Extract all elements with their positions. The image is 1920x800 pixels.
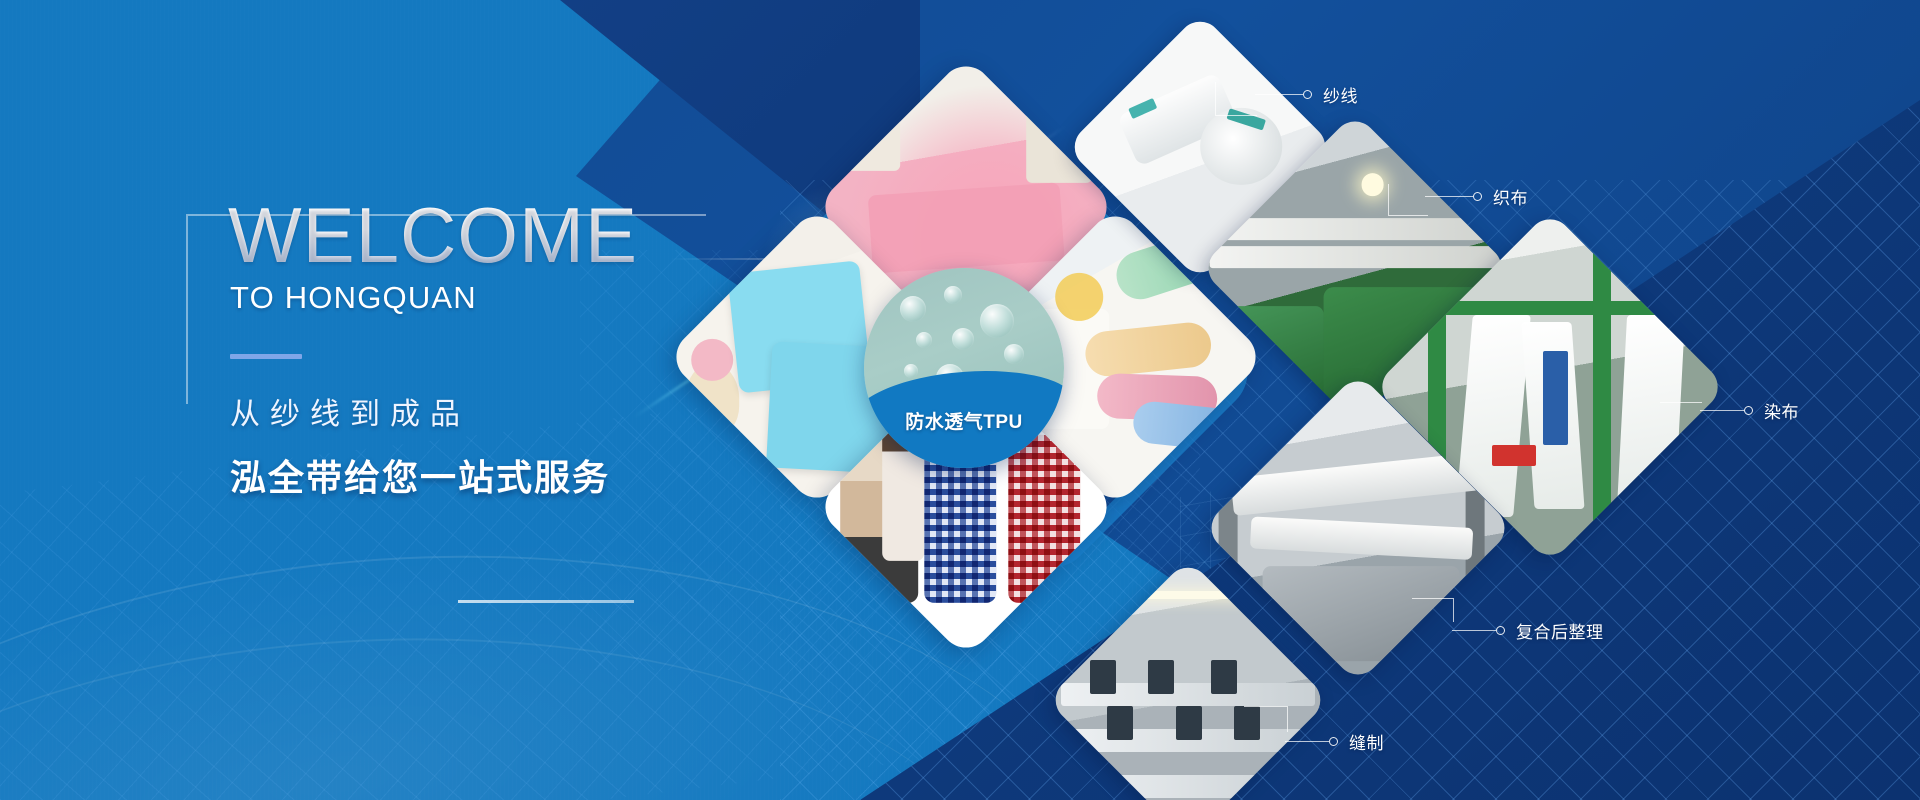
callout-laminating: 复合后整理 (1452, 618, 1604, 643)
tpu-badge-label: 防水透气TPU (864, 407, 1064, 434)
callout-connector-dyeing (1660, 402, 1702, 403)
page-title: WELCOME (228, 196, 748, 276)
callout-connector-sewing (1244, 706, 1288, 732)
bottom-accent-line (458, 600, 634, 603)
page-subtitle: TO HONGQUAN (230, 280, 748, 316)
callout-line (1285, 741, 1329, 742)
hero-banner: WELCOME TO HONGQUAN 从纱线到成品 泓全带给您一站式服务 (0, 0, 1920, 800)
callout-dyeing: 染布 (1700, 398, 1799, 423)
slogan: 泓全带给您一站式服务 (230, 449, 748, 501)
callout-dot-icon (1303, 90, 1312, 99)
callout-label-sewing: 缝制 (1349, 729, 1384, 754)
callout-yarn: 纱线 (1255, 82, 1358, 107)
callout-dot-icon (1473, 192, 1482, 201)
callout-label-laminating: 复合后整理 (1516, 618, 1604, 643)
callout-label-yarn: 纱线 (1323, 82, 1358, 107)
callout-line (1452, 630, 1496, 631)
callout-dot-icon (1496, 626, 1505, 635)
callout-line (1425, 196, 1473, 197)
callout-connector-yarn (1215, 82, 1257, 116)
callout-connector-weaving (1388, 184, 1428, 216)
tpu-feature-badge[interactable]: 防水透气TPU (864, 268, 1064, 468)
callout-dot-icon (1744, 406, 1753, 415)
callout-weaving: 织布 (1425, 184, 1528, 209)
callout-label-weaving: 织布 (1493, 184, 1528, 209)
callout-line (1255, 94, 1303, 95)
callout-connector-laminating (1412, 598, 1454, 622)
callout-line (1700, 410, 1744, 411)
callout-label-dyeing: 染布 (1764, 398, 1799, 423)
hero-text-block: WELCOME TO HONGQUAN 从纱线到成品 泓全带给您一站式服务 (228, 196, 748, 501)
callout-dot-icon (1329, 737, 1338, 746)
callout-sewing: 缝制 (1285, 729, 1384, 754)
